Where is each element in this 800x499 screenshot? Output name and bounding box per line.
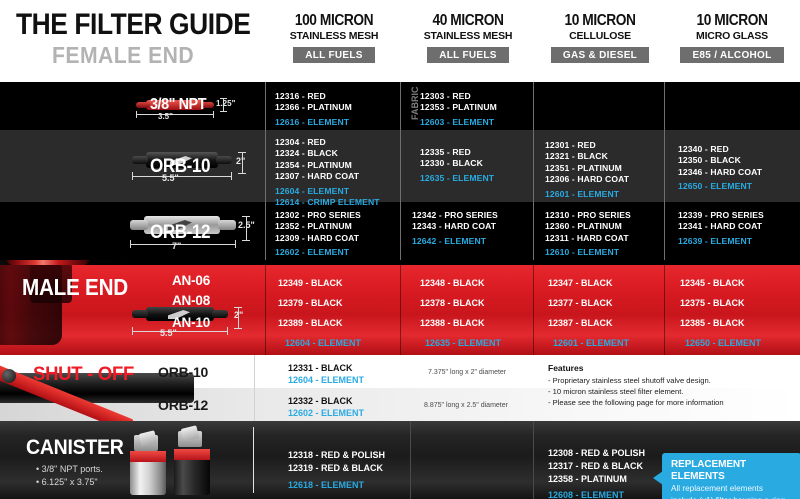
page-header: THE FILTER GUIDE FEMALE END 100 MICRON S… [0,0,800,82]
male-end-section: MALE END 5.5" 2" AN-06 AN-08 AN-10 12349… [0,265,800,355]
cell-orb12-10micron-microglass: 12339 - PRO SERIES 12341 - HARD COAT 126… [678,210,764,247]
column-divider [664,82,665,260]
cell-an10-100micron: 12389 - BLACK [278,318,343,328]
cell-element-100micron: 12604 - ELEMENT [285,338,361,348]
canister-spec-ports: • 3/8" NPT ports. [36,463,103,476]
column-divider [400,82,401,260]
male-size-an10: AN-10 [172,315,210,330]
column-material: STAINLESS MESH [402,30,534,43]
column-divider [265,265,266,355]
row-label-orb10: ORB-10 [150,156,210,178]
male-size-an06: AN-06 [172,273,210,288]
column-divider [400,265,401,355]
shutoff-parts-orb10: 12331 - BLACK 12604 - ELEMENT [288,362,364,386]
column-divider [533,421,534,499]
column-divider [265,82,266,260]
feature-item: - 10 micron stainless steel filter eleme… [548,386,788,397]
cell-an06-10micron-microglass: 12345 - BLACK [680,278,745,288]
column-header-10-micron-micro-glass: 10 MICRON MICRO GLASS E85 / ALCOHOL [666,12,798,63]
cell-orb10-10micron-cellulose: 12301 - RED 12321 - BLACK 12351 - PLATIN… [545,140,629,200]
column-material: MICRO GLASS [666,30,798,43]
column-divider [253,427,254,493]
shutoff-title: SHUT - OFF [33,363,134,386]
cell-orb12-100micron: 12302 - PRO SERIES 12352 - PLATINUM 1230… [275,210,361,259]
section-subtitle-female-end: FEMALE END [52,42,194,69]
feature-item: - Please see the following page for more… [548,397,788,408]
filter-guide-page: THE FILTER GUIDE FEMALE END 100 MICRON S… [0,0,800,499]
cell-orb12-40micron: 12342 - PRO SERIES 12343 - HARD COAT 126… [412,210,498,247]
column-header-10-micron-cellulose: 10 MICRON CELLULOSE GAS & DIESEL [534,12,666,63]
page-title: THE FILTER GUIDE [16,8,250,42]
cell-an08-40micron: 12378 - BLACK [420,298,485,308]
cell-an08-10micron-cellulose: 12377 - BLACK [548,298,613,308]
column-header-100-micron: 100 MICRON STAINLESS MESH ALL FUELS [268,12,400,63]
cell-orb10-40micron: 12335 - RED 12330 - BLACK 12635 - ELEMEN… [420,147,494,184]
column-fuel-badge: GAS & DIESEL [551,47,649,63]
orb10-height-dim: 2" [236,156,245,166]
shutoff-dims-orb12: 8.875" long x 2.5" diameter [424,402,508,409]
fabric-note-label: FABRIC [410,87,420,121]
canister-title: CANISTER [26,436,124,460]
column-material: CELLULOSE [534,30,666,43]
cell-an08-10micron-microglass: 12375 - BLACK [680,298,745,308]
cell-an10-10micron-cellulose: 12387 - BLACK [548,318,613,328]
canister-spec-size: • 6.125" x 3.75" [36,476,98,489]
callout-line1: All replacement elements [671,484,793,495]
cell-orb10-10micron-microglass: 12340 - RED 12350 - BLACK 12346 - HARD C… [678,144,762,193]
column-micron: 40 MICRON [411,12,525,29]
column-fuel-badge: ALL FUELS [427,47,509,63]
shutoff-label-orb10: ORB-10 [158,364,208,380]
shutoff-features: Features - Proprietary stainless steel s… [548,363,788,408]
column-divider [533,82,534,260]
cell-an10-10micron-microglass: 12385 - BLACK [680,318,745,328]
callout-title: REPLACEMENT ELEMENTS [671,459,793,483]
column-divider [664,265,665,355]
orb12-height-dim: 2.5" [238,220,255,230]
cell-npt-40micron: 12303 - RED 12353 - PLATINUM 12603 - ELE… [420,91,497,128]
row-label-orb12: ORB-12 [150,222,210,244]
cell-an06-100micron: 12349 - BLACK [278,278,343,288]
column-fuel-badge: ALL FUELS [293,47,375,63]
male-end-title: MALE END [22,274,128,301]
cell-an08-100micron: 12379 - BLACK [278,298,343,308]
feature-item: - Proprietary stainless steel shutoff va… [548,375,788,386]
cell-an06-40micron: 12348 - BLACK [420,278,485,288]
male-height-dim: 2" [234,310,243,320]
male-size-an08: AN-08 [172,293,210,308]
callout-line2: include (x1) filter housing o-ring [671,496,793,499]
shutoff-label-orb12: ORB-12 [158,397,208,413]
replacement-elements-callout: REPLACEMENT ELEMENTS All replacement ele… [662,453,800,499]
column-divider [410,421,411,499]
cell-element-40micron: 12635 - ELEMENT [425,338,501,348]
column-micron: 10 MICRON [543,12,657,29]
cell-element-10micron-microglass: 12650 - ELEMENT [685,338,761,348]
canister-cell-col3: 12308 - RED & POLISH 12317 - RED & BLACK… [548,447,645,499]
cell-an06-10micron-cellulose: 12347 - BLACK [548,278,613,288]
cell-orb10-100micron: 12304 - RED 12324 - BLACK 12354 - PLATIN… [275,137,380,208]
column-divider [254,355,255,421]
shutoff-section: SHUT - OFF ORB-10 ORB-12 12331 - BLACK 1… [0,355,800,421]
canister-cell-col1: 12318 - RED & POLISH 12319 - RED & BLACK… [288,449,385,492]
canister-image-black [172,429,220,493]
column-fuel-badge: E85 / ALCOHOL [680,47,783,63]
npt-height-dim: 1.25" [216,99,235,108]
canister-image-silver [128,435,176,493]
shutoff-dims-orb10: 7.375" long x 2" diameter [428,369,506,376]
column-divider [533,265,534,355]
cell-an10-40micron: 12388 - BLACK [420,318,485,328]
shutoff-parts-orb12: 12332 - BLACK 12602 - ELEMENT [288,395,364,419]
column-micron: 10 MICRON [675,12,789,29]
cell-element-10micron-cellulose: 12601 - ELEMENT [553,338,629,348]
row-label-npt: 3/8" NPT [150,96,206,114]
features-title: Features [548,363,788,373]
cell-orb12-10micron-cellulose: 12310 - PRO SERIES 12360 - PLATINUM 1231… [545,210,631,259]
cell-npt-100micron: 12316 - RED 12366 - PLATINUM 12616 - ELE… [275,91,352,128]
column-micron: 100 MICRON [277,12,391,29]
column-material: STAINLESS MESH [268,30,400,43]
column-header-40-micron: 40 MICRON STAINLESS MESH ALL FUELS [402,12,534,63]
canister-section: CANISTER • 3/8" NPT ports. • 6.125" x 3.… [0,421,800,499]
